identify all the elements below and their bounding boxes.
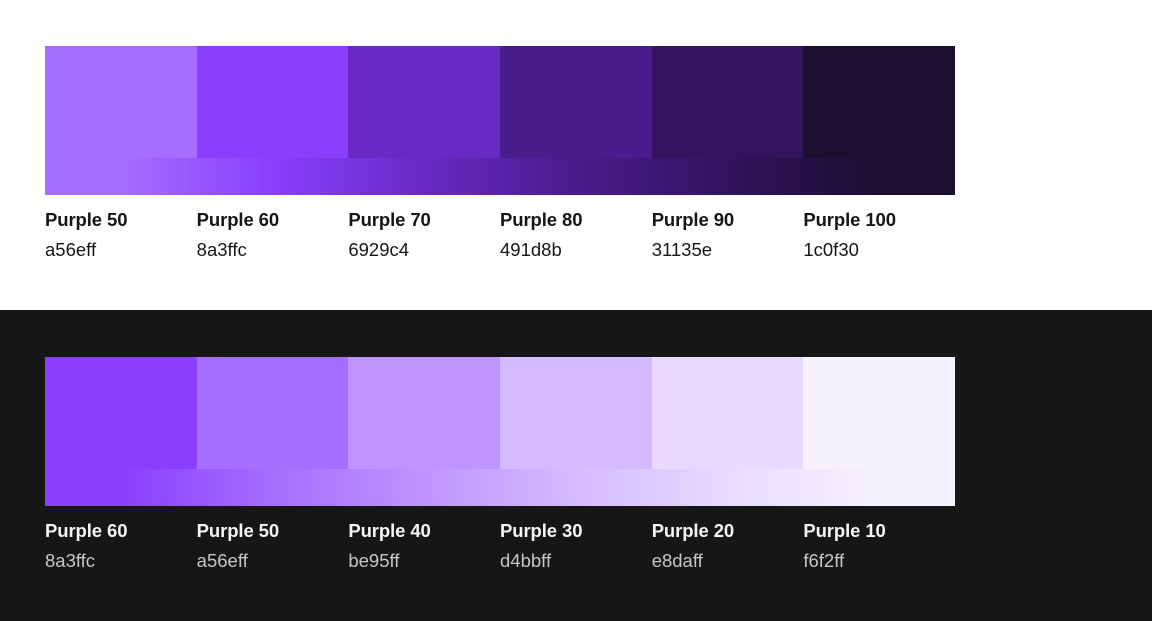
swatch-label: Purple 100 1c0f30: [803, 207, 955, 262]
swatch-hex: 31135e: [652, 232, 796, 262]
swatch-hex: 8a3ffc: [45, 543, 189, 573]
swatch-name: Purple 60: [45, 518, 189, 543]
swatch-label: Purple 90 31135e: [652, 207, 804, 262]
swatch-hex: 6929c4: [348, 232, 492, 262]
swatch-hex: a56eff: [197, 543, 341, 573]
swatch-hex: 491d8b: [500, 232, 644, 262]
swatch-name: Purple 60: [197, 207, 341, 232]
swatch-name: Purple 40: [348, 518, 492, 543]
swatch-hex: be95ff: [348, 543, 492, 573]
swatch-label: Purple 60 8a3ffc: [45, 518, 197, 573]
swatch-hex: a56eff: [45, 232, 189, 262]
swatch-label: Purple 30 d4bbff: [500, 518, 652, 573]
solid-swatch[interactable]: [652, 46, 804, 158]
palette-panel-light: Purple 50 a56eff Purple 60 8a3ffc Purple…: [0, 0, 1152, 310]
swatch-label-row: Purple 50 a56eff Purple 60 8a3ffc Purple…: [45, 195, 955, 262]
swatch-hex: f6f2ff: [803, 543, 947, 573]
solid-swatch[interactable]: [348, 357, 500, 469]
swatch-name: Purple 50: [197, 518, 341, 543]
swatch-group-dark: Purple 60 8a3ffc Purple 50 a56eff Purple…: [45, 357, 955, 573]
swatch-label: Purple 80 491d8b: [500, 207, 652, 262]
swatch-label: Purple 10 f6f2ff: [803, 518, 955, 573]
solid-swatch-row: [45, 46, 955, 158]
swatch-name: Purple 30: [500, 518, 644, 543]
swatch-hex: e8daff: [652, 543, 796, 573]
swatch-label: Purple 40 be95ff: [348, 518, 500, 573]
swatch-group-light: Purple 50 a56eff Purple 60 8a3ffc Purple…: [45, 46, 955, 262]
solid-swatch[interactable]: [803, 357, 955, 469]
solid-swatch[interactable]: [348, 46, 500, 158]
swatch-label: Purple 50 a56eff: [45, 207, 197, 262]
swatch-label: Purple 70 6929c4: [348, 207, 500, 262]
swatch-hex: 8a3ffc: [197, 232, 341, 262]
solid-swatch[interactable]: [652, 357, 804, 469]
solid-swatch[interactable]: [197, 357, 349, 469]
solid-swatch[interactable]: [803, 46, 955, 158]
palette-panel-dark: Purple 60 8a3ffc Purple 50 a56eff Purple…: [0, 310, 1152, 621]
solid-swatch[interactable]: [197, 46, 349, 158]
swatch-hex: 1c0f30: [803, 232, 947, 262]
solid-swatch[interactable]: [500, 357, 652, 469]
palette-page: Purple 50 a56eff Purple 60 8a3ffc Purple…: [0, 0, 1152, 621]
swatch-name: Purple 20: [652, 518, 796, 543]
swatch-hex: d4bbff: [500, 543, 644, 573]
solid-swatch[interactable]: [45, 46, 197, 158]
swatch-label: Purple 60 8a3ffc: [197, 207, 349, 262]
swatch-name: Purple 100: [803, 207, 947, 232]
gradient-strip: [45, 469, 955, 506]
swatch-label: Purple 20 e8daff: [652, 518, 804, 573]
swatch-name: Purple 80: [500, 207, 644, 232]
swatch-name: Purple 90: [652, 207, 796, 232]
swatch-name: Purple 70: [348, 207, 492, 232]
swatch-label: Purple 50 a56eff: [197, 518, 349, 573]
swatch-label-row: Purple 60 8a3ffc Purple 50 a56eff Purple…: [45, 506, 955, 573]
gradient-strip: [45, 158, 955, 195]
solid-swatch-row: [45, 357, 955, 469]
solid-swatch[interactable]: [500, 46, 652, 158]
swatch-name: Purple 50: [45, 207, 189, 232]
swatch-name: Purple 10: [803, 518, 947, 543]
solid-swatch[interactable]: [45, 357, 197, 469]
